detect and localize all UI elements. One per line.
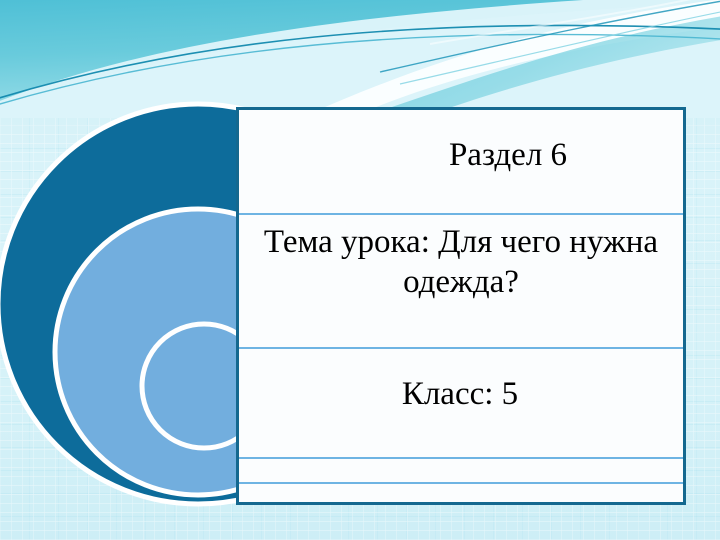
slide-canvas: Раздел 6 Тема урока: Для чего нужна одеж…	[0, 0, 720, 540]
concentric-circles-svg	[0, 96, 248, 516]
lesson-topic-label: Тема урока: Для чего нужна одежда?	[239, 223, 683, 302]
class-label: Класс: 5	[239, 378, 683, 411]
table-row-class: Класс: 5	[239, 347, 683, 457]
section-label: Раздел 6	[239, 139, 683, 172]
table-row-blank-1	[239, 457, 683, 482]
table-row-section: Раздел 6	[239, 110, 683, 213]
content-table: Раздел 6 Тема урока: Для чего нужна одеж…	[236, 107, 686, 505]
concentric-circles-decoration	[0, 96, 248, 516]
table-row-blank-2	[239, 482, 683, 502]
table-row-topic: Тема урока: Для чего нужна одежда?	[239, 213, 683, 347]
